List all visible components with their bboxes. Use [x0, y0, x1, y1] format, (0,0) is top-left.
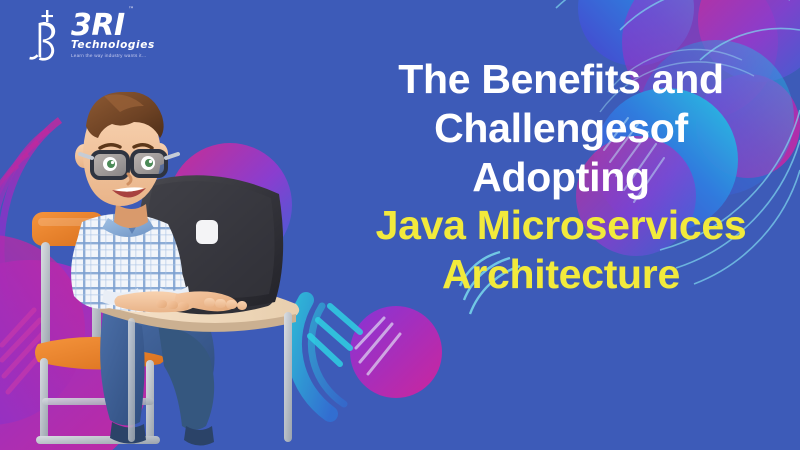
title-line-4: Java Microservices [336, 201, 786, 250]
trademark-icon: ™ [128, 7, 134, 13]
title-line-1: The Benefits and [336, 55, 786, 104]
title-line-3: Adopting [336, 153, 786, 202]
3ri-monogram-icon [26, 6, 70, 68]
logo-wordmark: 3RI ™ Technologies Learn the way industr… [71, 6, 155, 58]
blog-title-banner: 3RI ™ Technologies Learn the way industr… [0, 0, 800, 450]
brand-logo[interactable]: 3RI ™ Technologies Learn the way industr… [26, 6, 176, 82]
title-line-5: Architecture [336, 250, 786, 299]
logo-tagline: Learn the way industry wants it... [71, 53, 146, 58]
logo-brand-text: 3RI ™ [71, 12, 125, 41]
logo-brand-label: 3RI [71, 8, 125, 43]
page-title: The Benefits and Challengesof Adopting J… [336, 55, 786, 299]
title-line-2: Challengesof [336, 104, 786, 153]
developer-at-laptop-illustration [8, 92, 338, 450]
